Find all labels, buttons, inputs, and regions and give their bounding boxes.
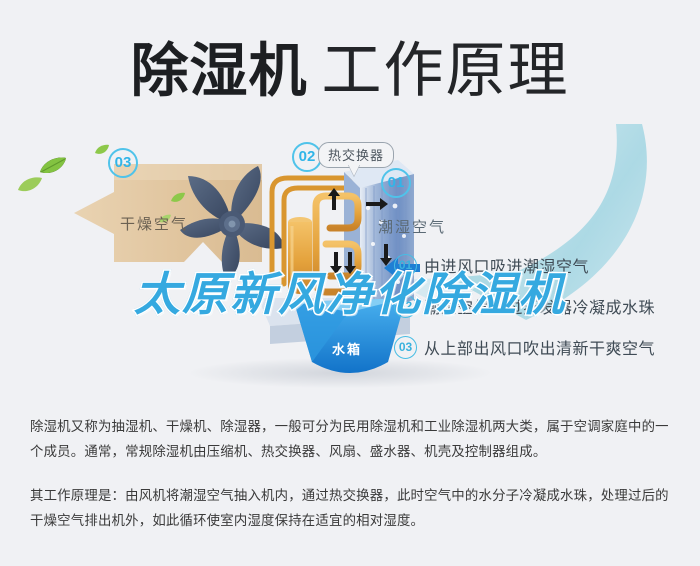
page-title-strong: 除湿机 bbox=[130, 39, 307, 104]
legend-badge: 03 bbox=[394, 336, 417, 359]
marker-03: 03 bbox=[108, 148, 138, 178]
page-title-light: 工作原理 bbox=[322, 37, 570, 104]
infographic-page: 除湿机工作原理 bbox=[0, 0, 700, 566]
legend-item: 03 从上部出风口吹出清新干爽空气 bbox=[394, 332, 684, 362]
dry-air-label: 干燥空气 bbox=[120, 213, 188, 234]
paragraph-1: 除湿机又称为抽湿机、干燥机、除湿器，一般可分为民用除湿机和工业除湿机两大类，属于… bbox=[30, 414, 672, 464]
callout-pointer-icon bbox=[348, 164, 360, 176]
legend-label: 由进风口吸进潮湿空气 bbox=[424, 253, 589, 277]
legend-badge: 02 bbox=[394, 295, 417, 318]
legend-label: 从上部出风口吹出清新干爽空气 bbox=[424, 335, 655, 359]
legend-item: 02 潮湿空气经过蒸发器冷凝成水珠 bbox=[394, 291, 684, 321]
legend-label: 潮湿空气经过蒸发器冷凝成水珠 bbox=[424, 294, 655, 318]
leaf-icon bbox=[17, 176, 43, 195]
leaf-icon bbox=[94, 144, 110, 157]
body-copy: 除湿机又称为抽湿机、干燥机、除湿器，一般可分为民用除湿机和工业除湿机两大类，属于… bbox=[30, 414, 672, 533]
page-title: 除湿机工作原理 bbox=[0, 22, 700, 109]
moist-air-label: 潮湿空气 bbox=[378, 216, 446, 237]
legend-item: 01 由进风口吸进潮湿空气 bbox=[394, 250, 684, 280]
water-tank-label: 水箱 bbox=[332, 339, 362, 358]
leaf-icon bbox=[38, 156, 68, 178]
legend-list: 01 由进风口吸进潮湿空气 02 潮湿空气经过蒸发器冷凝成水珠 03 从上部出风… bbox=[394, 250, 684, 373]
paragraph-2: 其工作原理是：由风机将潮湿空气抽入机内，通过热交换器，此时空气中的水分子冷凝成水… bbox=[30, 483, 672, 533]
legend-badge: 01 bbox=[394, 254, 417, 277]
marker-01: 01 bbox=[381, 168, 411, 198]
